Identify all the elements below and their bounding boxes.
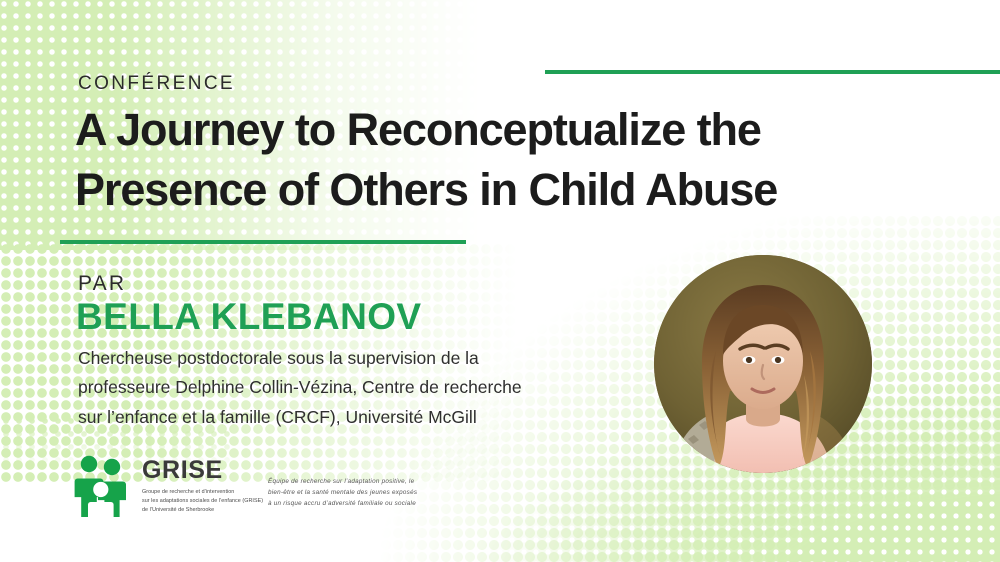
speaker-name: BELLA KLEBANOV — [76, 296, 421, 338]
grise-logo: GRISE Groupe de recherche et d’intervent… — [72, 455, 263, 517]
grise-subtitle-line-2: sur les adaptations sociales de l’enfanc… — [142, 497, 263, 506]
grise-subtitle: Groupe de recherche et d’intervention su… — [142, 488, 263, 515]
grise-subtitle-line-1: Groupe de recherche et d’intervention — [142, 488, 263, 497]
tagline-line-1: Équipe de recherche sur l’adaptation pos… — [268, 476, 417, 487]
tagline-line-3: à un risque accru d’adversité familiale … — [268, 498, 417, 509]
eyebrow-label: CONFÉRENCE — [78, 73, 235, 95]
divider-middle-left — [60, 240, 466, 244]
grise-wordmark: GRISE — [142, 458, 263, 483]
speaker-affiliation: Chercheuse postdoctorale sous la supervi… — [78, 344, 638, 432]
poster-content: CONFÉRENCE A Journey to Reconceptualize … — [0, 0, 1000, 562]
by-label: PAR — [78, 272, 126, 296]
divider-top-right — [545, 70, 1000, 74]
grise-subtitle-line-3: de l’Université de Sherbrooke — [142, 506, 263, 515]
affiliation-line-3: sur l’enfance et la famille (CRCF), Univ… — [78, 403, 638, 432]
title-line-2: Presence of Others in Child Abuse — [75, 160, 955, 220]
affiliation-line-1: Chercheuse postdoctorale sous la supervi… — [78, 344, 638, 373]
affiliation-line-2: professeure Delphine Collin-Vézina, Cent… — [78, 373, 638, 402]
family-group-icon — [72, 455, 130, 517]
research-team-tagline: Équipe de recherche sur l’adaptation pos… — [268, 476, 417, 509]
grise-logo-text: GRISE Groupe de recherche et d’intervent… — [142, 455, 263, 515]
tagline-line-2: bien-être et la santé mentale des jeunes… — [268, 487, 417, 498]
speaker-portrait — [654, 255, 872, 473]
title-line-1: A Journey to Reconceptualize the — [75, 100, 955, 160]
page-title: A Journey to Reconceptualize the Presenc… — [75, 100, 955, 220]
